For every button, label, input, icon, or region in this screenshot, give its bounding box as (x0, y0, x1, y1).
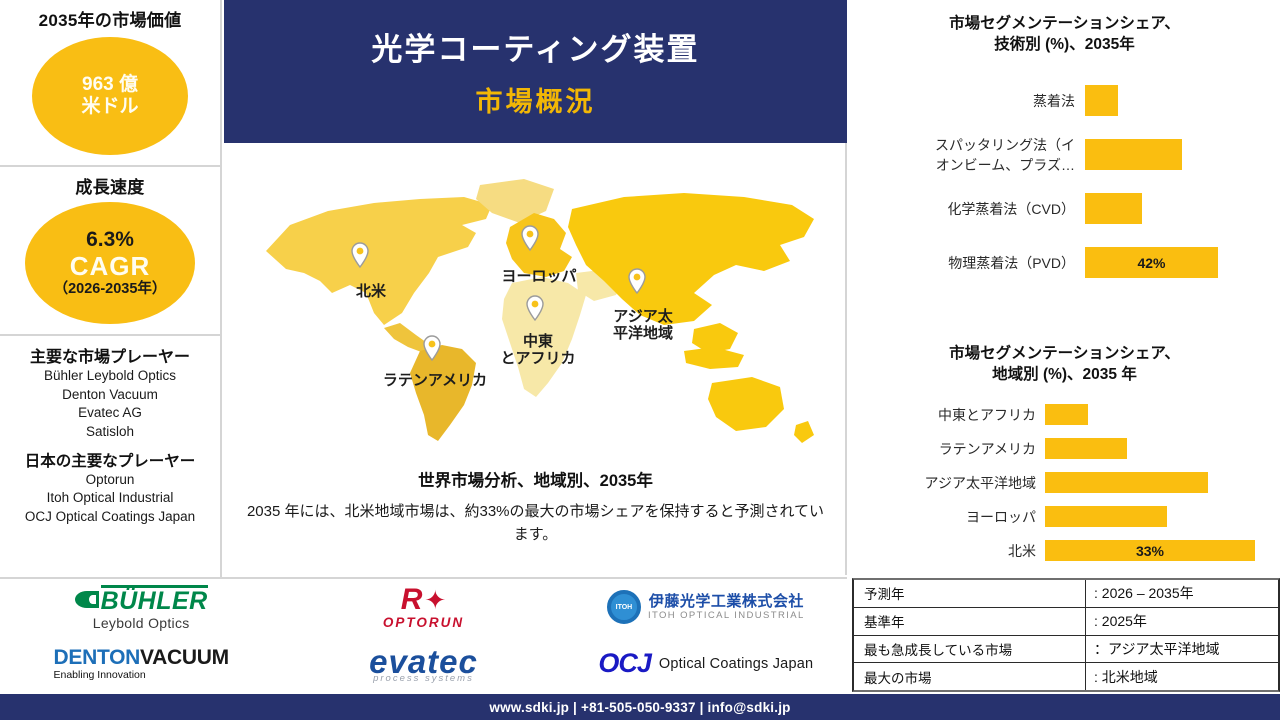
map-region-label: ラテンアメリカ (383, 372, 487, 389)
evatec-tagline: process systems (369, 674, 478, 684)
table-cell-value: : 2025年 (1086, 608, 1278, 635)
jp-players-list: Optorun Itoh Optical Industrial OCJ Opti… (4, 471, 216, 527)
technology-chart-rows: 蒸着法スパッタリング法（イオンビーム、プラズ…化学蒸着法（CVD）物理蒸着法（P… (849, 74, 1280, 290)
technology-category-label: 物理蒸着法（PVD） (849, 253, 1085, 273)
market-value-ellipse: 963 億 米ドル (32, 37, 188, 155)
region-chart-title-line2: 地域別 (%)、2035 年 (849, 365, 1280, 386)
table-cell-value: : 北米地域 (1086, 663, 1278, 690)
region-new-zealand (794, 421, 814, 443)
map-pin-icon (422, 335, 442, 361)
region-category-label: 中東とアフリカ (849, 405, 1045, 425)
growth-rate-ellipse-wrap: 6.3% CAGR （2026-2035年） (4, 198, 216, 324)
table-cell-key: 予測年 (854, 580, 1086, 607)
key-players-heading: 主要な市場プレーヤー (4, 343, 216, 367)
cagr-percent: 6.3% (86, 228, 134, 253)
itoh-jp-name: 伊藤光学工業株式会社 (648, 594, 805, 609)
region-chart-row: 中東とアフリカ (849, 398, 1280, 432)
ocj-subtitle: Optical Coatings Japan (659, 657, 813, 672)
table-cell-key: 基準年 (854, 608, 1086, 635)
world-map: 北米ヨーロッパアジア太平洋地域中東とアフリカラテンアメリカ (224, 153, 847, 473)
logo-denton-vacuum: DENTONVACUUM Enabling Innovation (54, 647, 229, 681)
list-item: Evatec AG (4, 404, 216, 423)
map-region-label: 北米 (356, 283, 386, 300)
region-chart-row: アジア太平洋地域 (849, 466, 1280, 500)
market-value-title: 2035年の市場価値 (4, 6, 216, 31)
technology-chart-title: 市場セグメンテーションシェア、 技術別 (%)、2035年 (849, 14, 1280, 56)
denton-tagline: Enabling Innovation (54, 670, 229, 681)
technology-bar (1085, 193, 1142, 224)
region-bar (1045, 438, 1127, 459)
region-category-label: ラテンアメリカ (849, 439, 1045, 459)
world-map-panel: 北米ヨーロッパアジア太平洋地域中東とアフリカラテンアメリカ 世界市場分析、地域別… (224, 143, 847, 575)
cagr-period: （2026-2035年） (54, 281, 167, 298)
region-category-label: アジア太平洋地域 (849, 473, 1045, 493)
map-pin-icon (525, 295, 545, 321)
list-item: Itoh Optical Industrial (4, 489, 216, 508)
page-title: 光学コーティング装置 (371, 24, 699, 69)
region-bar: 33% (1045, 540, 1255, 561)
buhler-dot-icon (75, 591, 99, 608)
technology-bar (1085, 85, 1118, 116)
region-segmentation-chart: 市場セグメンテーションシェア、 地域別 (%)、2035 年 中東とアフリカラテ… (849, 344, 1280, 568)
optorun-mark: R ✦ (383, 585, 464, 615)
region-south-america (410, 345, 476, 441)
region-asia-pacific (568, 193, 814, 325)
market-value-ellipse-wrap: 963 億 米ドル (4, 31, 216, 155)
growth-rate-title: 成長速度 (4, 173, 216, 198)
technology-chart-title-line2: 技術別 (%)、2035年 (849, 35, 1280, 56)
market-value-card: 2035年の市場価値 963 億 米ドル (0, 0, 220, 167)
region-indonesia (684, 347, 744, 369)
region-australia (708, 377, 784, 431)
footer-contact-text: www.sdki.jp | +81-505-050-9337 | info@sd… (489, 700, 790, 715)
region-bar (1045, 506, 1167, 527)
ocj-wordmark: OCJ (598, 650, 651, 677)
table-row: 最も急成長している市場：アジア太平洋地域 (854, 636, 1278, 664)
logo-optorun: R ✦ OPTORUN (383, 585, 464, 630)
logo-evatec: evatec process systems (369, 645, 478, 684)
star-icon: ✦ (424, 587, 446, 613)
map-caption: 世界市場分析、地域別、2035年 2035 年には、北米地域市場は、約33%の最… (224, 467, 847, 546)
technology-chart-row: 物理蒸着法（PVD）42% (849, 236, 1280, 290)
technology-category-label: 化学蒸着法（CVD） (849, 199, 1085, 219)
map-region-label: アジア太平洋地域 (613, 308, 673, 343)
map-caption-body: 2035 年には、北米地域市場は、約33%の最大の市場シェアを保持すると予測され… (246, 501, 826, 546)
map-pin-icon (520, 225, 540, 251)
technology-segmentation-chart: 市場セグメンテーションシェア、 技術別 (%)、2035年 蒸着法スパッタリング… (849, 14, 1280, 290)
key-players-list: Bühler Leybold Optics Denton Vacuum Evat… (4, 367, 216, 442)
technology-chart-row: 化学蒸着法（CVD） (849, 182, 1280, 236)
table-cell-key: 最大の市場 (854, 663, 1086, 690)
technology-bar-value: 42% (1137, 255, 1165, 271)
table-row: 予測年: 2026 – 2035年 (854, 580, 1278, 608)
map-pin-icon (350, 242, 370, 268)
region-chart-row: 北米33% (849, 534, 1280, 568)
report-info-table: 予測年: 2026 – 2035年基準年: 2025年最も急成長している市場：ア… (852, 578, 1280, 692)
infographic-page: 2035年の市場価値 963 億 米ドル 成長速度 6.3% CAGR （202… (0, 0, 1280, 720)
technology-chart-row: 蒸着法 (849, 74, 1280, 128)
growth-rate-card: 成長速度 6.3% CAGR （2026-2035年） (0, 167, 220, 336)
region-bar (1045, 472, 1208, 493)
page-subtitle: 市場概況 (476, 80, 596, 119)
map-region-label: 中東とアフリカ (500, 333, 575, 368)
region-category-label: 北米 (849, 541, 1045, 561)
footer-contact-bar: www.sdki.jp | +81-505-050-9337 | info@sd… (0, 694, 1280, 720)
itoh-text-block: 伊藤光学工業株式会社 ITOH OPTICAL INDUSTRIAL (648, 594, 805, 621)
map-caption-title: 世界市場分析、地域別、2035年 (224, 467, 847, 491)
technology-chart-row: スパッタリング法（イオンビーム、プラズ… (849, 128, 1280, 182)
denton-word-a: DENTON (54, 646, 141, 669)
list-item: Denton Vacuum (4, 386, 216, 405)
itoh-en-name: ITOH OPTICAL INDUSTRIAL (648, 611, 805, 621)
list-item: Bühler Leybold Optics (4, 367, 216, 386)
list-item: OCJ Optical Coatings Japan (4, 508, 216, 527)
market-value-unit: 米ドル (81, 96, 138, 118)
region-chart-title-line1: 市場セグメンテーションシェア、 (849, 344, 1280, 365)
optorun-r-glyph: R (401, 585, 423, 615)
map-region-label: ヨーロッパ (501, 268, 576, 285)
list-item: Satisloh (4, 423, 216, 442)
region-category-label: ヨーロッパ (849, 507, 1045, 527)
technology-category-label: スパッタリング法（イオンビーム、プラズ… (849, 135, 1085, 176)
technology-bar: 42% (1085, 247, 1218, 278)
table-row: 最大の市場: 北米地域 (854, 663, 1278, 690)
market-value-amount: 963 億 (82, 74, 138, 96)
region-chart-row: ヨーロッパ (849, 500, 1280, 534)
list-item: Optorun (4, 471, 216, 490)
table-cell-key: 最も急成長している市場 (854, 636, 1086, 663)
itoh-circle-icon: ITOH (607, 590, 641, 624)
table-cell-value: ：アジア太平洋地域 (1086, 636, 1278, 663)
technology-category-label: 蒸着法 (849, 91, 1085, 111)
buhler-subtitle: Leybold Optics (75, 616, 208, 630)
denton-word-b: VACUUM (140, 646, 229, 669)
jp-players-heading: 日本の主要なプレーヤー (4, 449, 216, 471)
growth-rate-ellipse: 6.3% CAGR （2026-2035年） (25, 202, 195, 324)
region-bar-value: 33% (1136, 543, 1164, 559)
region-north-america (266, 197, 492, 325)
buhler-wordmark: BÜHLER (101, 585, 208, 614)
map-pin-icon (627, 268, 647, 294)
table-cell-value: : 2026 – 2035年 (1086, 580, 1278, 607)
logo-itoh-optical-industrial: ITOH 伊藤光学工業株式会社 ITOH OPTICAL INDUSTRIAL (607, 590, 805, 624)
region-chart-row: ラテンアメリカ (849, 432, 1280, 466)
region-chart-rows: 中東とアフリカラテンアメリカアジア太平洋地域ヨーロッパ北米33% (849, 398, 1280, 568)
technology-chart-title-line1: 市場セグメンテーションシェア、 (849, 14, 1280, 35)
buhler-wordmark-row: BÜHLER (75, 585, 208, 614)
region-chart-title: 市場セグメンテーションシェア、 地域別 (%)、2035 年 (849, 344, 1280, 386)
denton-wordmark: DENTONVACUUM (54, 647, 229, 668)
region-bar (1045, 404, 1088, 425)
logo-buhler-leybold-optics: BÜHLER Leybold Optics (75, 585, 208, 630)
table-row: 基準年: 2025年 (854, 608, 1278, 636)
logo-ocj-optical-coatings-japan: OCJ Optical Coatings Japan (598, 650, 813, 677)
page-header: 光学コーティング装置 市場概況 (224, 0, 847, 143)
cagr-label: CAGR (70, 251, 151, 282)
partner-logo-strip: BÜHLER Leybold Optics R ✦ OPTORUN ITOH 伊… (0, 577, 847, 692)
optorun-wordmark: OPTORUN (383, 616, 464, 630)
technology-bar (1085, 139, 1182, 170)
